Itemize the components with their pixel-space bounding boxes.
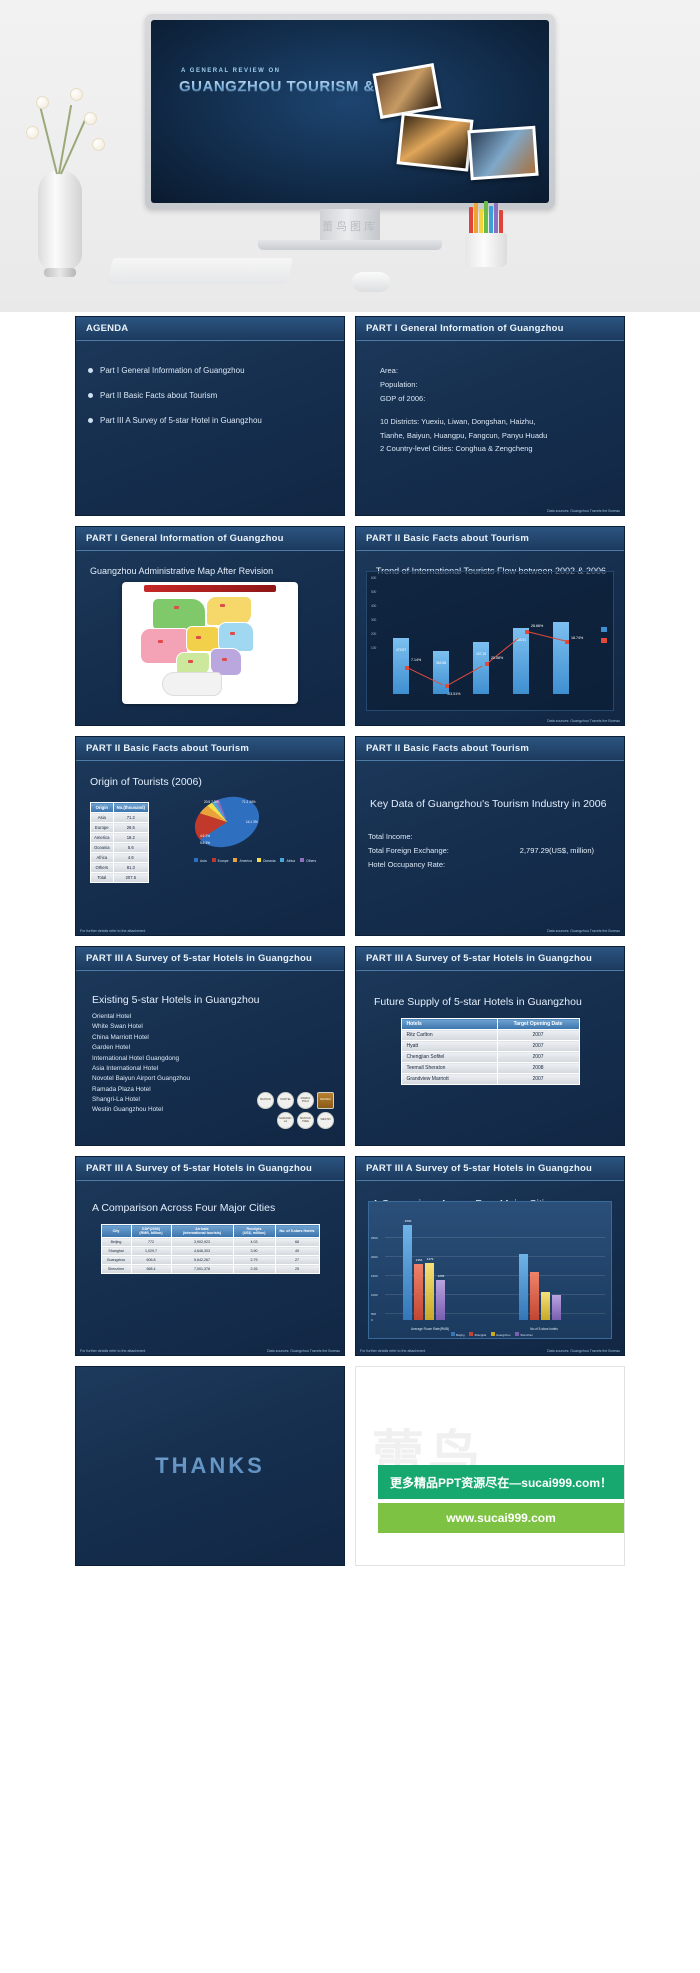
cell: 26.5 xyxy=(113,823,148,833)
keyboard-prop xyxy=(107,258,293,284)
cell: 81.3 xyxy=(113,863,148,873)
pie-slice-label: 14.1 3% xyxy=(246,820,258,824)
cell: 68 xyxy=(275,1238,319,1247)
cell: Ritz Carlton xyxy=(401,1030,497,1041)
slide-body: Part I General Information of Guangzhou … xyxy=(76,342,344,515)
hotel-logo-badges: BANYAN SOFITEL MARCO POLO RAMADA SHANGRI… xyxy=(250,1092,334,1129)
rate-label: 20.58% xyxy=(491,656,503,660)
cell: America xyxy=(91,833,114,843)
table-row: Chengjian Sofitel2007 xyxy=(401,1052,579,1063)
chart-legend: Beijing Shanghai Guangzhou Shenzhen xyxy=(369,1332,611,1337)
hotel-logo-icon: MARCO POLO xyxy=(297,1092,314,1109)
bar-guangzhou-hotels xyxy=(541,1292,550,1320)
bar-shenzhen-rate xyxy=(436,1280,445,1320)
table-row: Hyatt2007 xyxy=(401,1041,579,1052)
bar-shanghai-hotels xyxy=(530,1272,539,1320)
slide-subtitle: Origin of Tourists (2006) xyxy=(90,776,332,788)
slide-header: PART I General Information of Guangzhou xyxy=(356,317,624,341)
table-row: Europe26.5 xyxy=(91,823,149,833)
row-value: 2,797.29(US$, million) xyxy=(520,844,612,858)
bar-value-label: 1479 xyxy=(420,1257,440,1261)
slide-footnote-right: Data sources: Guangzhou Travels the Bure… xyxy=(267,1349,340,1353)
list-item: Part II Basic Facts about Tourism xyxy=(88,391,332,400)
photo-thumb xyxy=(372,63,441,119)
cell: 49 xyxy=(275,1247,319,1256)
slide-subtitle: Existing 5-star Hotels in Guangzhou xyxy=(92,994,332,1006)
table-row: Ritz Carlton2007 xyxy=(401,1030,579,1041)
col-number: No.(thousand) xyxy=(113,803,148,813)
cell: Oceania xyxy=(91,843,114,853)
administrative-map-image xyxy=(122,582,298,704)
slide-header: PART III A Survey of 5-star Hotels in Gu… xyxy=(76,1157,344,1181)
col-hotels: No. of 5-stars Hotels xyxy=(275,1225,319,1238)
chart-legend xyxy=(601,627,609,643)
slide-admin-map[interactable]: PART I General Information of Guangzhou … xyxy=(75,526,345,726)
list-item: Part I General Information of Guangzhou xyxy=(88,366,332,375)
col-arrivals: Arrivals (international tourists) xyxy=(171,1225,233,1238)
promo-banner[interactable]: 蕾鸟 更多精品PPT资源尽在—sucai999.com！ www.sucai99… xyxy=(355,1366,625,1566)
rate-label: 7.14% xyxy=(411,658,421,662)
rate-label: -23.51% xyxy=(447,692,460,696)
list-item: International Hotel Guangdong xyxy=(92,1054,332,1064)
slide-subtitle: Key Data of Guangzhou's Tourism Industry… xyxy=(370,798,612,810)
legend-label: Others xyxy=(306,859,316,863)
slide-body: Key Data of Guangzhou's Tourism Industry… xyxy=(356,762,624,935)
slide-header-text: PART III A Survey of 5-star Hotels in Gu… xyxy=(86,953,312,964)
hotel-logo-icon: BANYAN xyxy=(257,1092,274,1109)
map-title-bar xyxy=(144,585,276,592)
cell: 2.79 xyxy=(233,1256,275,1265)
row-value xyxy=(594,830,612,844)
row-label: Total Foreign Exchange: xyxy=(368,844,449,858)
cell: 207.5 xyxy=(113,873,148,883)
table-row: Africa4.6 xyxy=(91,853,149,863)
slide-footnote: Data sources: Guangzhou Travels the Bure… xyxy=(547,929,620,933)
slide-footnote-left: For further details refer to the attachm… xyxy=(80,1349,145,1353)
col-receipts: Receipts (US$, million) xyxy=(233,1225,275,1238)
general-info-lines: Area: Population: GDP of 2006: 10 Distri… xyxy=(380,364,612,456)
slide-thanks[interactable]: THANKS xyxy=(75,1366,345,1566)
info-line: 10 Districts: Yuexiu, Liwan, Dongshan, H… xyxy=(380,415,612,429)
slide-subtitle: A Comparison Across Four Major Cities xyxy=(92,1202,332,1214)
cell: Shanghai xyxy=(101,1247,131,1256)
monitor-mockup: A GENERAL REVIEW ON GUANGZHOU TOURISM & … xyxy=(145,14,555,209)
y-tick: 100 xyxy=(371,646,376,650)
slide-header-text: PART III A Survey of 5-star Hotels in Gu… xyxy=(366,953,592,964)
table-row: America18.2 xyxy=(91,833,149,843)
photo-thumb xyxy=(396,112,473,171)
agenda-bullets: Part I General Information of Guangzhou … xyxy=(88,366,332,425)
hero-watermark: 蕾鸟图库 xyxy=(0,218,700,234)
y-tick: 1500 xyxy=(371,1274,378,1278)
cell: 2.26 xyxy=(233,1265,275,1274)
list-item-label: Part III A Survey of 5-star Hotel in Gua… xyxy=(100,416,262,425)
pie-legend: Asia Europe America Oceania Africa Other… xyxy=(190,858,316,863)
list-item: China Marriott Hotel xyxy=(92,1033,332,1043)
slide-header: PART II Basic Facts about Tourism xyxy=(356,737,624,761)
hotel-logo-icon: SOFITEL xyxy=(277,1092,294,1109)
info-line: 2 Country-level Cities: Conghua & Zengch… xyxy=(380,442,612,456)
rate-label: 28.66% xyxy=(531,624,543,628)
city-comparison-table: City GDP(2006) (RMB, billion) Arrivals (… xyxy=(101,1224,320,1274)
slide-footnote: For further details refer to the attachm… xyxy=(80,929,145,933)
cell: 71.2 xyxy=(113,813,148,823)
flower-bloom xyxy=(26,126,39,139)
x-axis-label: No.of 5-stars hotels xyxy=(499,1327,589,1331)
cell: Chengjian Sofitel xyxy=(401,1052,497,1063)
bullet-dot-icon xyxy=(88,418,93,423)
cell: 4,646,303 xyxy=(171,1247,233,1256)
cell: 2007 xyxy=(497,1052,579,1063)
hero-subtitle: A GENERAL REVIEW ON xyxy=(181,68,281,74)
slide-header: PART I General Information of Guangzhou xyxy=(76,527,344,551)
slide-footnote: Data sources: Guangzhou Travels the Bure… xyxy=(547,509,620,513)
photo-thumb xyxy=(467,126,538,181)
cell: 2007 xyxy=(497,1041,579,1052)
slide-footnote-left: For further details refer to the attachm… xyxy=(360,1349,425,1353)
pencil-cup xyxy=(465,205,507,267)
flower-bloom xyxy=(70,88,83,101)
info-line: Tianhe, Baiyun, Huangpu, Fangcun, Panyu … xyxy=(380,429,612,443)
table-row: Others81.3 xyxy=(91,863,149,873)
slide-header: PART III A Survey of 5-star Hotels in Gu… xyxy=(356,1157,624,1181)
cell: Hyatt xyxy=(401,1041,497,1052)
list-item-label: Part I General Information of Guangzhou xyxy=(100,366,245,375)
flower-bloom xyxy=(36,96,49,109)
cell: 27 xyxy=(275,1256,319,1265)
cell: 1,029.7 xyxy=(131,1247,171,1256)
y-tick: 500 xyxy=(371,590,376,594)
hero-banner: A GENERAL REVIEW ON GUANGZHOU TOURISM & … xyxy=(0,0,700,312)
cell: Teemall Sheraton xyxy=(401,1063,497,1074)
key-data-row: Total Foreign Exchange: 2,797.29(US$, mi… xyxy=(368,844,612,858)
tourist-trend-chart: 600 500 400 300 200 100 473.97 362.56 43… xyxy=(366,571,614,711)
flower-bloom xyxy=(92,138,105,151)
cell: Africa xyxy=(91,853,114,863)
cell: 7,001,378 xyxy=(171,1265,233,1274)
cell: Total xyxy=(91,873,114,883)
table-row: Grandview Marriott2007 xyxy=(401,1074,579,1085)
slide-existing-hotels[interactable]: PART III A Survey of 5-star Hotels in Gu… xyxy=(75,946,345,1146)
key-data-rows: Total Income: Total Foreign Exchange: 2,… xyxy=(368,830,612,872)
slide-subtitle: Guangzhou Administrative Map After Revis… xyxy=(90,566,332,576)
rate-label: 18.74% xyxy=(571,636,583,640)
bar-value-label: 473.97 xyxy=(388,648,414,652)
cell: 4.6 xyxy=(113,853,148,863)
table-row: Shanghai 1,029.7 4,646,303 3.90 49 xyxy=(101,1247,319,1256)
row-value xyxy=(594,858,612,872)
y-tick: 2000 xyxy=(371,1255,378,1259)
key-data-row: Hotel Occupancy Rate: xyxy=(368,858,612,872)
slide-body: Existing 5-star Hotels in Guangzhou Orie… xyxy=(76,972,344,1145)
table-header-row: Origin No.(thousand) xyxy=(91,803,149,813)
row-label: Total Income: xyxy=(368,830,413,844)
slide-header-text: PART III A Survey of 5-star Hotels in Gu… xyxy=(86,1163,312,1174)
cell: 772 xyxy=(131,1238,171,1247)
bar-shanghai-rate xyxy=(414,1264,423,1320)
legend-label: Asia xyxy=(200,859,207,863)
cell: Europe xyxy=(91,823,114,833)
list-item: Oriental Hotel xyxy=(92,1012,332,1022)
col-target-date: Target Opening Date xyxy=(497,1019,579,1030)
bar-value-label: 1055 xyxy=(431,1274,451,1278)
slide-future-supply[interactable]: PART III A Survey of 5-star Hotels in Gu… xyxy=(355,946,625,1146)
monitor-base xyxy=(258,240,442,250)
slide-body: Area: Population: GDP of 2006: 10 Distri… xyxy=(356,342,624,515)
page-root: A GENERAL REVIEW ON GUANGZHOU TOURISM & … xyxy=(0,0,700,1973)
y-tick: 2500 xyxy=(371,1236,378,1240)
y-tick: 500 xyxy=(371,1312,376,1316)
col-hotels: Hotels xyxy=(401,1019,497,1030)
hotel-logo-icon: RAMADA xyxy=(317,1092,334,1109)
bar-value-label: 362.56 xyxy=(428,661,454,665)
slide-header: PART II Basic Facts about Tourism xyxy=(356,527,624,551)
slide-body: Guangzhou Administrative Map After Revis… xyxy=(76,552,344,725)
bar-beijing-hotels xyxy=(519,1254,528,1320)
cell: 2008 xyxy=(497,1063,579,1074)
legend-label: Shanghai xyxy=(474,1333,486,1337)
slide-grid: AGENDA Part I General Information of Gua… xyxy=(6,316,694,1566)
cell: 5.6 xyxy=(113,843,148,853)
slide-origin-of-tourists[interactable]: PART II Basic Facts about Tourism Origin… xyxy=(75,736,345,936)
slide-key-data[interactable]: PART II Basic Facts about Tourism Key Da… xyxy=(355,736,625,936)
mouse-prop xyxy=(352,272,390,292)
flower-bloom xyxy=(84,112,97,125)
info-line: Population: xyxy=(380,378,612,392)
cell: 4.03 xyxy=(233,1238,275,1247)
cell: Shenzhen xyxy=(101,1265,131,1274)
slide-header: AGENDA xyxy=(76,317,344,341)
slide-tourist-trend[interactable]: PART II Basic Facts about Tourism Trend … xyxy=(355,526,625,726)
y-tick: 300 xyxy=(371,618,376,622)
cell: 568.4 xyxy=(131,1265,171,1274)
hotel-logo-icon: WESTIN xyxy=(317,1112,334,1129)
pie-slice-label: 4.6 2% xyxy=(200,834,210,838)
slide-header-text: PART II Basic Facts about Tourism xyxy=(366,743,529,754)
slide-general-info[interactable]: PART I General Information of Guangzhou … xyxy=(355,316,625,516)
flower-stem xyxy=(37,98,58,174)
slide-header: PART III A Survey of 5-star Hotels in Gu… xyxy=(76,947,344,971)
col-gdp: GDP(2006) (RMB, billion) xyxy=(131,1225,171,1238)
info-line: GDP of 2006: xyxy=(380,392,612,406)
promo-band-secondary[interactable]: www.sucai999.com xyxy=(378,1503,624,1533)
slide-agenda[interactable]: AGENDA Part I General Information of Gua… xyxy=(75,316,345,516)
cell: 606.8 xyxy=(131,1256,171,1265)
legend-label: Oceania xyxy=(263,859,276,863)
slide-header-text: PART II Basic Facts about Tourism xyxy=(366,533,529,544)
col-city: City xyxy=(101,1225,131,1238)
slide-footnote: Data sources: Guangzhou Travels the Bure… xyxy=(547,719,620,723)
key-data-row: Total Income: xyxy=(368,830,612,844)
table-row: Teemall Sheraton2008 xyxy=(401,1063,579,1074)
bar-beijing-rate xyxy=(403,1225,412,1320)
future-supply-table: Hotels Target Opening Date Ritz Carlton2… xyxy=(401,1018,580,1085)
cell: Grandview Marriott xyxy=(401,1074,497,1085)
slide-header: PART II Basic Facts about Tourism xyxy=(76,737,344,761)
table-row-total: Total207.5 xyxy=(91,873,149,883)
slide-comparison-chart[interactable]: PART III A Survey of 5-star Hotels in Gu… xyxy=(355,1156,625,1356)
hotel-logo-icon: BANYAN TREE xyxy=(297,1112,314,1129)
cell: 2007 xyxy=(497,1074,579,1085)
slide-comparison-table[interactable]: PART III A Survey of 5-star Hotels in Gu… xyxy=(75,1156,345,1356)
cell: 18.2 xyxy=(113,833,148,843)
title-slide: A GENERAL REVIEW ON GUANGZHOU TOURISM & … xyxy=(151,20,549,203)
table-header-row: Hotels Target Opening Date xyxy=(401,1019,579,1030)
list-item-label: Part II Basic Facts about Tourism xyxy=(100,391,217,400)
city-comparison-bar-chart: 2500 2000 1500 1000 500 0 2500 1454 1479… xyxy=(368,1201,612,1339)
table-row: Guangzhou 606.8 5,642,267 2.79 27 xyxy=(101,1256,319,1265)
cell: Beijing xyxy=(101,1238,131,1247)
promo-line-1: 更多精品PPT资源尽在—sucai999.com！ xyxy=(390,1474,612,1491)
x-axis-label: Average Room Rate(RMB) xyxy=(385,1327,475,1331)
table-row: Beijing 772 3,902,923 4.03 68 xyxy=(101,1238,319,1247)
slide-body: Origin of Tourists (2006) Origin No.(tho… xyxy=(76,762,344,935)
row-label: Hotel Occupancy Rate: xyxy=(368,858,445,872)
slide-body: Future Supply of 5-star Hotels in Guangz… xyxy=(356,972,624,1145)
cell: 3.90 xyxy=(233,1247,275,1256)
legend-label: America xyxy=(239,859,251,863)
slide-body: A Comparison Across Four Major Cities Ci… xyxy=(76,1182,344,1355)
bar-value-label: 2500 xyxy=(398,1219,418,1223)
info-line: Area: xyxy=(380,364,612,378)
y-tick: 1000 xyxy=(371,1293,378,1297)
cell: 25 xyxy=(275,1265,319,1274)
table-row: Oceania5.6 xyxy=(91,843,149,853)
slide-header-text: PART I General Information of Guangzhou xyxy=(86,533,284,544)
slide-header-text: PART III A Survey of 5-star Hotels in Gu… xyxy=(366,1163,592,1174)
slide-header-text: PART II Basic Facts about Tourism xyxy=(86,743,249,754)
cell: 2007 xyxy=(497,1030,579,1041)
slide-footnote-right: Data sources: Guangzhou Travels the Bure… xyxy=(547,1349,620,1353)
slide-header-text: PART I General Information of Guangzhou xyxy=(366,323,564,334)
pie-slice-label: 5.6 3% xyxy=(200,841,210,845)
legend-label: Africa xyxy=(286,859,295,863)
bar-guangzhou-rate xyxy=(425,1263,434,1320)
cell: Others xyxy=(91,863,114,873)
y-tick: 600 xyxy=(371,576,376,580)
cell: Asia xyxy=(91,813,114,823)
promo-band-primary: 更多精品PPT资源尽在—sucai999.com！ xyxy=(378,1465,624,1499)
list-item: Part III A Survey of 5-star Hotel in Gua… xyxy=(88,416,332,425)
list-item: White Swan Hotel xyxy=(92,1022,332,1032)
promo-line-2: www.sucai999.com xyxy=(446,1511,556,1525)
slide-header: PART III A Survey of 5-star Hotels in Gu… xyxy=(356,947,624,971)
hotel-logo-icon: SHANGRI-LA xyxy=(277,1112,294,1129)
y-tick: 0 xyxy=(371,1318,373,1322)
slide-subtitle: Future Supply of 5-star Hotels in Guangz… xyxy=(374,996,612,1008)
cell: Guangzhou xyxy=(101,1256,131,1265)
origin-table: Origin No.(thousand) Asia71.2 Europe26.5… xyxy=(90,802,149,883)
legend-label: Europe xyxy=(218,859,229,863)
list-item: Asia International Hotel xyxy=(92,1064,332,1074)
list-item: Novotel Baiyun Airport Guangzhou xyxy=(92,1074,332,1084)
legend-label: Guangzhou xyxy=(496,1333,510,1337)
slide-header-text: AGENDA xyxy=(86,323,128,334)
cell: 3,902,923 xyxy=(171,1238,233,1247)
bullet-dot-icon xyxy=(88,368,93,373)
list-item: Garden Hotel xyxy=(92,1043,332,1053)
col-origin: Origin xyxy=(91,803,114,813)
legend-label: Shenzhen xyxy=(520,1333,533,1337)
thanks-text: THANKS xyxy=(76,1367,344,1565)
y-tick: 200 xyxy=(371,632,376,636)
cell: 5,642,267 xyxy=(171,1256,233,1265)
table-row: Asia71.2 xyxy=(91,813,149,823)
bullet-dot-icon xyxy=(88,393,93,398)
legend-label: Beijing xyxy=(456,1333,464,1337)
bar-2006 xyxy=(553,622,569,694)
y-tick: 400 xyxy=(371,604,376,608)
pie-slice-label: 20.5 7.3% xyxy=(204,800,218,804)
bar-shenzhen-hotels xyxy=(552,1295,561,1320)
table-header-row: City GDP(2006) (RMB, billion) Arrivals (… xyxy=(101,1225,319,1238)
pie-slice-label: 71.3 34% xyxy=(242,800,255,804)
table-row: Shenzhen 568.4 7,001,378 2.26 25 xyxy=(101,1265,319,1274)
